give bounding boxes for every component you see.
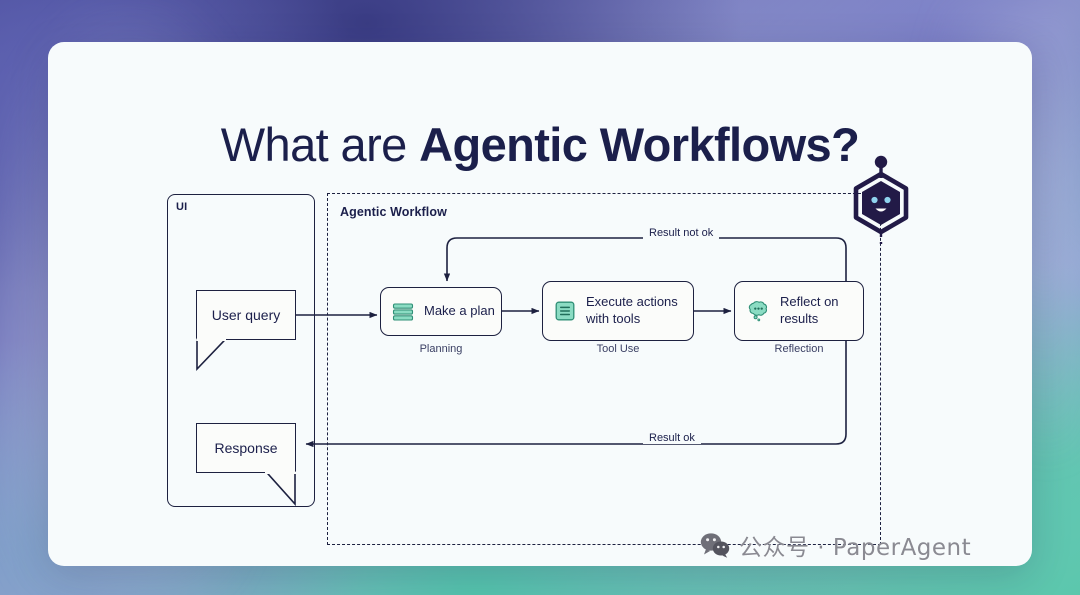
workflow-group-container xyxy=(327,193,881,545)
watermark-text: 公众号 · PaperAgent xyxy=(739,528,971,562)
step-reflection-label-line2: results xyxy=(780,311,839,328)
layers-icon xyxy=(392,301,414,323)
step-reflection-box[interactable]: Reflect on results xyxy=(734,281,864,341)
response-bubble[interactable]: Response xyxy=(196,423,296,473)
ui-group-label: UI xyxy=(176,201,187,213)
thought-bubble-icon xyxy=(746,300,770,322)
agent-robot-icon xyxy=(844,152,918,244)
workflow-group-label: Agentic Workflow xyxy=(340,205,447,219)
slide-card: What are Agentic Workflows? UI Agentic W… xyxy=(48,42,1032,566)
watermark: 公众号 · PaperAgent xyxy=(700,528,971,562)
response-label: Response xyxy=(214,440,277,456)
agentic-workflow-diagram: UI Agentic Workflow User query xyxy=(48,42,1032,566)
user-query-label: User query xyxy=(212,307,280,323)
step-reflection-caption: Reflection xyxy=(734,343,864,355)
step-planning-box[interactable]: Make a plan xyxy=(380,287,502,336)
step-tool-use-label-line2: with tools xyxy=(586,311,678,328)
response-bubble-tail xyxy=(255,472,303,508)
step-tool-use-label-line1: Execute actions xyxy=(586,294,678,311)
wechat-icon xyxy=(700,532,730,558)
step-tool-use-box[interactable]: Execute actions with tools xyxy=(542,281,694,341)
step-tool-use-label: Execute actions with tools xyxy=(586,294,678,327)
step-reflection-label: Reflect on results xyxy=(780,294,839,327)
user-query-bubble[interactable]: User query xyxy=(196,290,296,340)
edge-label-result-ok: Result ok xyxy=(643,432,701,444)
step-reflection-label-line1: Reflect on xyxy=(780,294,839,311)
user-query-bubble-tail xyxy=(195,339,237,373)
document-list-icon xyxy=(554,300,576,322)
step-tool-use-caption: Tool Use xyxy=(542,343,694,355)
step-planning-label: Make a plan xyxy=(424,303,495,320)
step-planning-caption: Planning xyxy=(380,343,502,355)
edge-label-result-not-ok: Result not ok xyxy=(643,227,719,239)
